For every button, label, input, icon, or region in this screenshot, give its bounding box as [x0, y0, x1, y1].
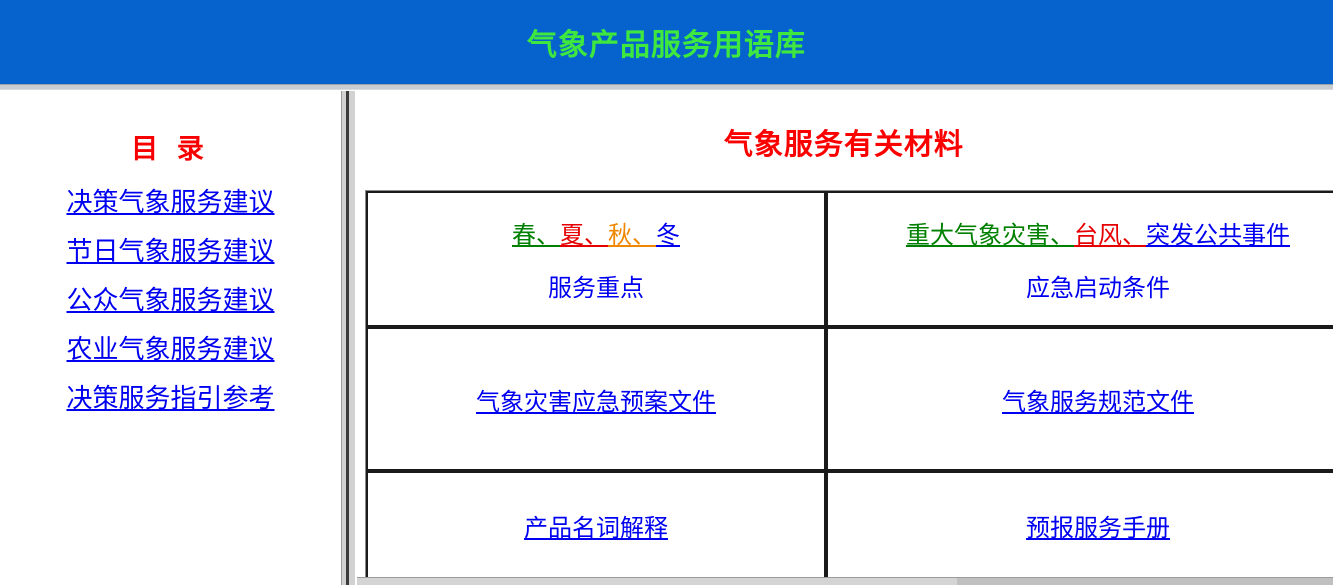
season-summer-label: 夏、 — [560, 223, 608, 249]
emergency-activation-label: 应急启动条件 — [828, 268, 1333, 303]
link-service-standard-docs[interactable]: 气象服务规范文件 — [1002, 390, 1194, 416]
season-autumn-label: 秋、 — [608, 223, 656, 249]
list-item: 节日气象服务建议 — [0, 225, 341, 274]
link-forecast-service-manual[interactable]: 预报服务手册 — [1026, 516, 1170, 542]
link-product-glossary[interactable]: 产品名词解释 — [524, 516, 668, 542]
frame-divider-handle[interactable] — [346, 91, 349, 585]
table-row: 产品名词解释 预报服务手册 — [366, 471, 1333, 580]
sidebar-item-holiday-advice[interactable]: 节日气象服务建议 — [66, 237, 274, 266]
horizontal-scrollbar[interactable] — [357, 577, 1333, 585]
table-cell-emergency: 重大气象灾害、台风、突发公共事件 应急启动条件 — [826, 191, 1333, 327]
toc-heading: 目 录 — [0, 91, 341, 166]
seasons-link-wrapper: 春、夏、秋、冬 — [368, 215, 824, 250]
sidebar-frame: 目 录 决策气象服务建议 节日气象服务建议 公众气象服务建议 农业气象服务建议 … — [0, 91, 341, 585]
toc-list: 决策气象服务建议 节日气象服务建议 公众气象服务建议 农业气象服务建议 决策服务… — [0, 166, 341, 421]
typhoon-label: 台风、 — [1074, 223, 1146, 249]
table-cell-forecast-manual: 预报服务手册 — [826, 471, 1333, 580]
table-row: 气象灾害应急预案文件 气象服务规范文件 — [366, 327, 1333, 471]
list-item: 决策服务指引参考 — [0, 372, 341, 421]
frame-divider-edge — [341, 91, 342, 585]
season-spring-label: 春、 — [512, 223, 560, 249]
service-focus-label: 服务重点 — [368, 268, 824, 303]
main-frame: 气象服务有关材料 春、夏、秋、冬 服务重点 重大气象灾害、台风、突发公共事件 应… — [355, 91, 1333, 585]
public-emergency-label: 突发公共事件 — [1146, 223, 1290, 249]
emergency-link-wrapper: 重大气象灾害、台风、突发公共事件 — [828, 215, 1333, 250]
list-item: 公众气象服务建议 — [0, 274, 341, 323]
table-cell-service-standard-docs: 气象服务规范文件 — [826, 327, 1333, 471]
link-disaster-emergency-plan-docs[interactable]: 气象灾害应急预案文件 — [476, 390, 716, 416]
table-cell-product-glossary: 产品名词解释 — [366, 471, 826, 580]
link-seasons[interactable]: 春、夏、秋、冬 — [512, 215, 680, 250]
season-winter-label: 冬 — [656, 223, 680, 249]
sidebar-item-decision-guideline[interactable]: 决策服务指引参考 — [66, 384, 274, 413]
link-major-disasters[interactable]: 重大气象灾害、台风、突发公共事件 — [906, 215, 1290, 250]
main-heading: 气象服务有关材料 — [355, 91, 1333, 163]
table-row: 春、夏、秋、冬 服务重点 重大气象灾害、台风、突发公共事件 应急启动条件 — [366, 191, 1333, 327]
banner-separator — [0, 84, 1333, 90]
sidebar-item-agriculture-advice[interactable]: 农业气象服务建议 — [66, 335, 274, 364]
table-cell-disaster-plan-docs: 气象灾害应急预案文件 — [366, 327, 826, 471]
application-window: 气象产品服务用语库 目 录 决策气象服务建议 节日气象服务建议 公众气象服务建议… — [0, 0, 1333, 585]
frame-divider[interactable] — [341, 91, 355, 585]
list-item: 农业气象服务建议 — [0, 323, 341, 372]
list-item: 决策气象服务建议 — [0, 176, 341, 225]
sidebar-item-public-advice[interactable]: 公众气象服务建议 — [66, 286, 274, 315]
page-title: 气象产品服务用语库 — [527, 20, 806, 64]
sidebar-item-decision-advice[interactable]: 决策气象服务建议 — [66, 188, 274, 217]
major-disaster-label: 重大气象灾害、 — [906, 223, 1074, 249]
table-cell-seasons: 春、夏、秋、冬 服务重点 — [366, 191, 826, 327]
page-banner: 气象产品服务用语库 — [0, 0, 1333, 84]
materials-table: 春、夏、秋、冬 服务重点 重大气象灾害、台风、突发公共事件 应急启动条件 气象灾… — [365, 190, 1333, 580]
horizontal-scrollbar-thumb[interactable] — [357, 578, 957, 585]
